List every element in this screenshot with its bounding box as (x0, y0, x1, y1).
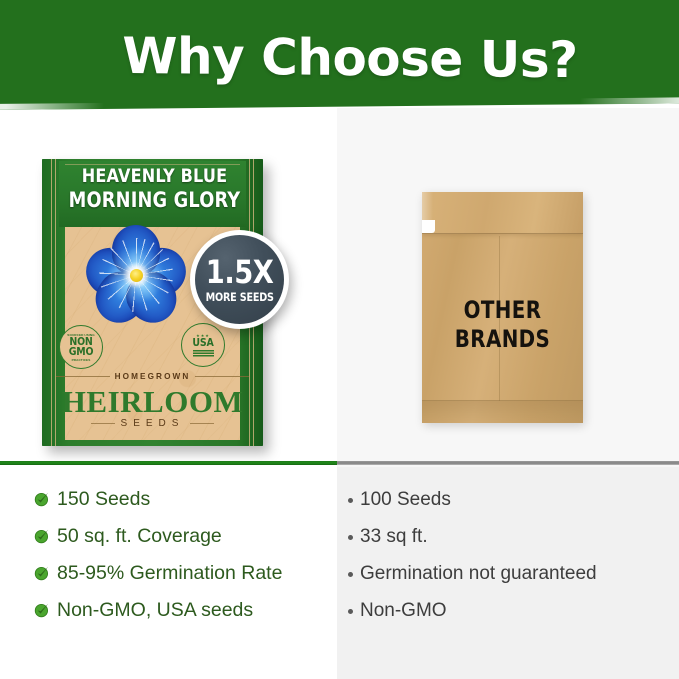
envelope-label: OTHER BRANDS (428, 296, 576, 354)
list-item: Germination not guaranteed (348, 555, 668, 592)
packet-rule (56, 376, 110, 377)
feature-text: 85-95% Germination Rate (57, 555, 282, 592)
envelope-bottom-fold (422, 400, 583, 423)
list-item: 85-95% Germination Rate (34, 555, 334, 592)
packet-rule (195, 376, 249, 377)
list-item: 150 Seeds (34, 481, 334, 518)
feature-text: Non-GMO (360, 592, 447, 629)
competitor-feature-list: 100 Seeds 33 sq ft. Germination not guar… (348, 481, 668, 629)
list-item: Non-GMO, USA seeds (34, 592, 334, 629)
packet-title-line2: MORNING GLORY (58, 189, 251, 212)
packet-seeds-row: SEEDS (56, 418, 249, 429)
gray-dot-icon (348, 572, 353, 577)
our-feature-list: 150 Seeds 50 sq. ft. Coverage 85-95% G (34, 481, 334, 629)
packet-rule (91, 423, 115, 424)
green-check-circle-icon (34, 565, 50, 581)
more-seeds-subtitle: MORE SEEDS (205, 291, 273, 304)
packet-homegrown-row: HOMEGROWN (56, 372, 249, 381)
envelope-flap (422, 192, 583, 234)
right-divider-rule (337, 461, 679, 465)
packet-seeds-label: SEEDS (121, 418, 185, 429)
more-seeds-badge-inner: 1.5X MORE SEEDS (195, 235, 284, 324)
green-check-circle-icon (34, 491, 50, 507)
page-title: Why Choose Us? (0, 0, 679, 115)
comparison-infographic: Why Choose Us? HEAVENLY BLUE MORNING GLO… (0, 0, 679, 679)
list-item: 33 sq ft. (348, 518, 668, 555)
flower-center (130, 269, 143, 282)
green-check-circle-icon (34, 602, 50, 618)
gray-dot-icon (348, 498, 353, 503)
non-gmo-seal: SOURCED USING NON GMO PRACTICES (59, 325, 103, 369)
feature-text: 100 Seeds (360, 481, 451, 518)
green-check-circle-icon (34, 528, 50, 544)
envelope-flap-notch (422, 220, 435, 233)
feature-text: 150 Seeds (57, 481, 150, 518)
packet-heirloom-label: HEIRLOOM (48, 385, 257, 418)
usa-seal: ★★★ USA (181, 323, 225, 367)
non-gmo-seal-bottom-text: PRACTICES (72, 358, 91, 362)
gray-dot-icon (348, 535, 353, 540)
usa-seal-stripes (193, 350, 214, 357)
feature-text: Non-GMO, USA seeds (57, 592, 253, 629)
list-item: 100 Seeds (348, 481, 668, 518)
feature-text: Germination not guaranteed (360, 555, 597, 592)
morning-glory-flower-icon (88, 227, 184, 323)
gray-dot-icon (348, 609, 353, 614)
usa-seal-text: USA (192, 338, 213, 349)
envelope-label-line1: OTHER (428, 296, 576, 325)
non-gmo-seal-line2: GMO (69, 347, 94, 358)
feature-text: 50 sq. ft. Coverage (57, 518, 222, 555)
packet-title-text: HEAVENLY BLUE MORNING GLORY (58, 165, 251, 212)
competitor-envelope: OTHER BRANDS (422, 192, 583, 423)
envelope-label-line2: BRANDS (428, 325, 576, 354)
packet-homegrown-label: HOMEGROWN (115, 372, 191, 381)
left-divider-rule (0, 461, 337, 465)
packet-rule (190, 423, 214, 424)
list-item: Non-GMO (348, 592, 668, 629)
more-seeds-badge: 1.5X MORE SEEDS (190, 230, 289, 329)
list-item: 50 sq. ft. Coverage (34, 518, 334, 555)
packet-title-line1: HEAVENLY BLUE (82, 165, 228, 187)
more-seeds-multiplier: 1.5X (206, 256, 274, 288)
feature-text: 33 sq ft. (360, 518, 428, 555)
